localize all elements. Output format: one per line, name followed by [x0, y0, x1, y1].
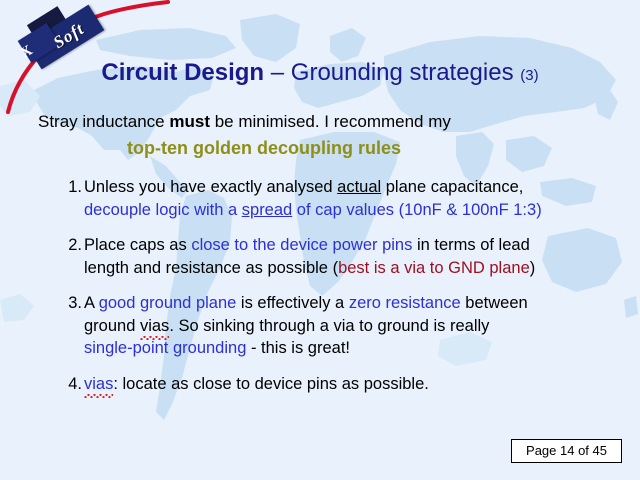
rule-number-1: 1. [62, 176, 82, 199]
title-bold-part: Circuit Design [101, 59, 264, 86]
rule-item-2: 2. Place caps as close to the device pow… [0, 234, 640, 279]
rule-item-4: 4. vias: locate as close to device pins … [0, 373, 640, 396]
golden-subtitle: top-ten golden decoupling rules [0, 136, 640, 160]
lead-after: be minimised. I recommend my [210, 112, 451, 131]
lead-before: Stray inductance [38, 112, 169, 131]
slide-body: Stray inductance must be minimised. I re… [0, 110, 640, 408]
rule-3-highlight-zero-resistance: zero resistance [349, 294, 461, 312]
rule-3-spellcheck-vias: vias [140, 315, 169, 338]
rule-1-line2-a: decouple logic with a [84, 201, 242, 219]
rule-2-line1-a: Place caps as [84, 236, 191, 254]
title-regular-part: Grounding strategies [291, 59, 514, 86]
lead-paragraph: Stray inductance must be minimised. I re… [38, 110, 640, 134]
rule-number-3: 3. [62, 292, 82, 315]
rule-1-line2-b: of cap values (10nF & 100nF 1:3) [292, 201, 541, 219]
rule-item-3: 3. A good ground plane is effectively a … [0, 292, 640, 360]
title-number: (3) [520, 67, 538, 84]
title-dash: – [264, 59, 291, 86]
rule-4-spellcheck-vias: vias [84, 373, 113, 396]
rule-3-line1-b: is effectively a [236, 294, 349, 312]
rule-1-line1-a: Unless you have exactly analysed [84, 178, 337, 196]
rule-number-2: 2. [62, 234, 82, 257]
rule-2-line2-a: length and resistance as possible ( [84, 259, 338, 277]
page-title: Circuit Design – Grounding strategies (3… [0, 58, 640, 91]
rule-3-line2-b: . So sinking through a via to ground is … [169, 317, 489, 335]
rule-1-line1-b: plane capacitance, [381, 178, 523, 196]
page-number-label: Page 14 of 45 [526, 443, 607, 458]
rule-1-underlined-spread: spread [242, 201, 292, 219]
rule-3-line1-a: A [84, 294, 99, 312]
rule-1-underlined-actual: actual [337, 178, 381, 196]
rule-2-highlight-blue: close to the device power pins [191, 236, 412, 254]
rule-2-line1-b: in terms of lead [412, 236, 529, 254]
rule-4-line1-b: : locate as close to device pins as poss… [113, 375, 429, 393]
rules-list: 1. Unless you have exactly analysed actu… [0, 176, 640, 395]
lead-emphasis: must [169, 112, 210, 131]
rule-3-highlight-single-point-grounding: single-point grounding [84, 339, 246, 357]
slide-canvas: Soft X Circuit Design – Grounding strate… [0, 0, 640, 480]
page-number-box: Page 14 of 45 [511, 439, 622, 463]
rule-2-line2-b: ) [530, 259, 536, 277]
rule-item-1: 1. Unless you have exactly analysed actu… [0, 176, 640, 221]
rule-number-4: 4. [62, 373, 82, 396]
rule-3-line2-a: ground [84, 317, 140, 335]
rule-2-highlight-red: best is a via to GND plane [338, 259, 530, 277]
rule-3-line1-c: between [461, 294, 528, 312]
rule-3-line3-b: - this is great! [246, 339, 350, 357]
rule-3-highlight-good-ground-plane: good ground plane [99, 294, 237, 312]
